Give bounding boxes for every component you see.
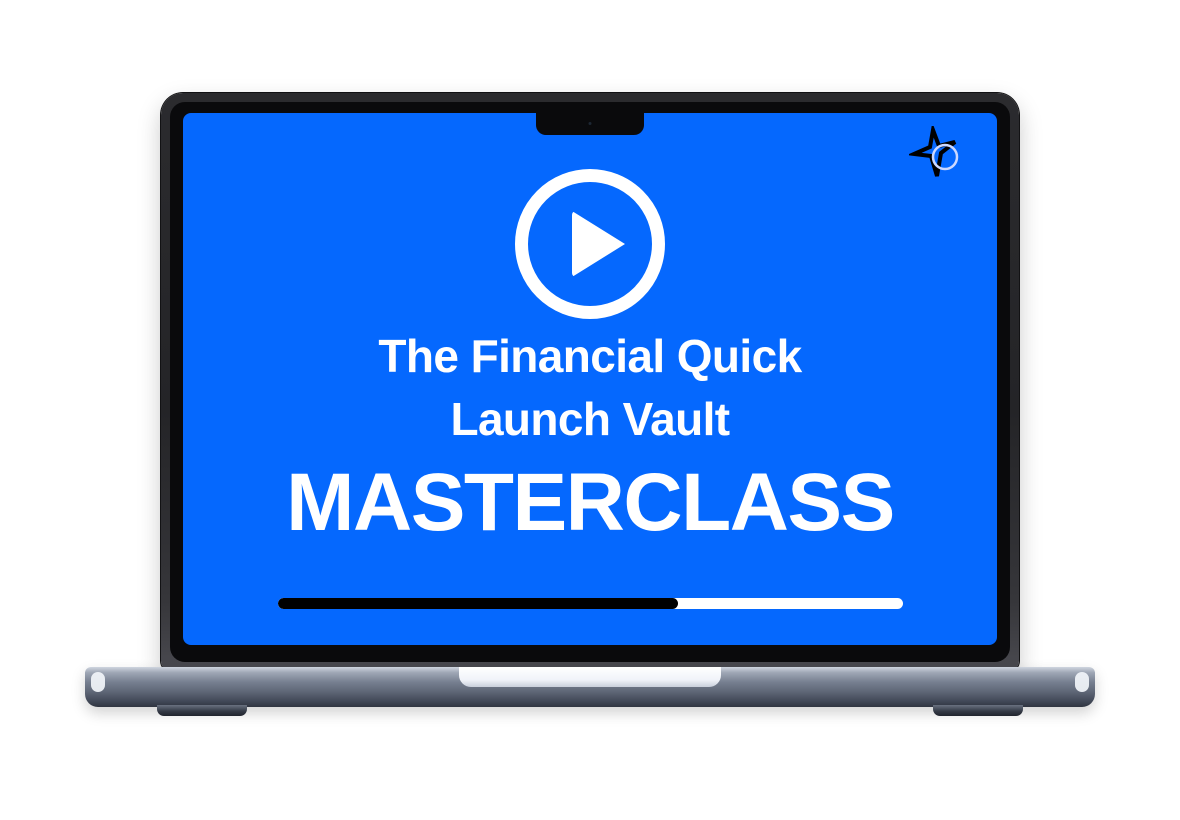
base-foot-right <box>933 705 1023 716</box>
video-progress-bar[interactable] <box>278 598 903 609</box>
play-button[interactable] <box>515 169 665 319</box>
video-progress-fill <box>278 598 678 609</box>
headline-line-2: Launch Vault <box>211 388 969 451</box>
camera-dot-icon <box>589 122 592 125</box>
base-lip-notch <box>459 667 721 687</box>
laptop-base <box>85 667 1095 707</box>
display-notch <box>536 113 644 135</box>
screen-text-block: The Financial Quick Launch Vault MASTERC… <box>183 325 997 544</box>
base-foot-left <box>157 705 247 716</box>
masterclass-title: MASTERCLASS <box>211 462 969 544</box>
laptop-mockup: The Financial Quick Launch Vault MASTERC… <box>0 0 1180 820</box>
laptop-screen: The Financial Quick Launch Vault MASTERC… <box>183 113 997 645</box>
base-highlight-left <box>91 672 105 692</box>
base-highlight-right <box>1075 672 1089 692</box>
play-triangle-icon <box>572 211 625 277</box>
headline-line-1: The Financial Quick <box>211 325 969 388</box>
star-circle-logo-icon <box>909 126 969 182</box>
